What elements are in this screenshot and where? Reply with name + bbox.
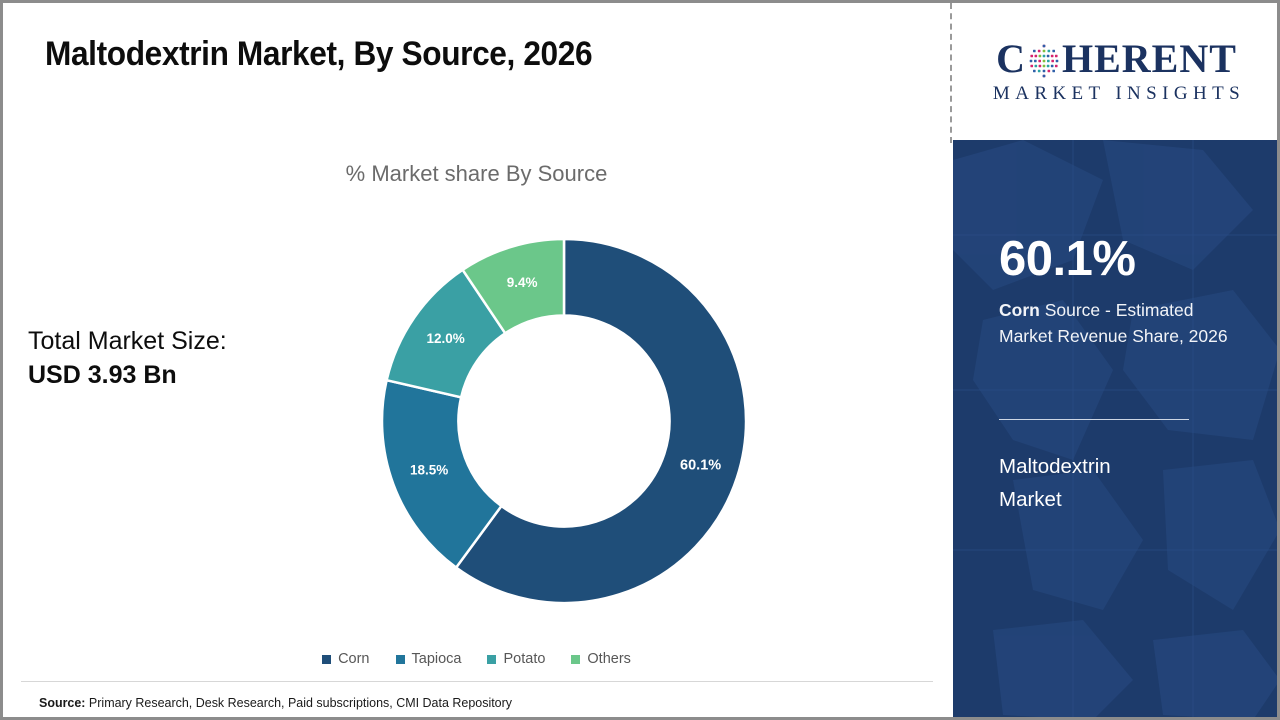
footer-divider <box>21 681 933 682</box>
globe-dot <box>1043 59 1046 62</box>
globe-dot <box>1038 69 1041 72</box>
legend-item-tapioca[interactable]: Tapioca <box>396 651 462 667</box>
infographic-frame: Maltodextrin Market, By Source, 2026 % M… <box>0 0 1280 720</box>
donut-chart: 60.1%18.5%12.0%9.4% <box>378 235 750 607</box>
highlight-product-line2: Market <box>999 483 1234 516</box>
globe-dot <box>1051 64 1054 67</box>
donut-slice-label-others: 9.4% <box>507 275 538 290</box>
globe-dot <box>1048 69 1051 72</box>
legend-label-others: Others <box>587 651 631 667</box>
highlight-stat-rule <box>999 419 1189 420</box>
globe-dot <box>1039 64 1042 67</box>
chart-legend: CornTapiocaPotatoOthers <box>3 651 950 667</box>
legend-swatch-corn <box>322 655 331 664</box>
brand-logo-letters-herent: HERENT <box>1062 39 1237 79</box>
legend-item-potato[interactable]: Potato <box>487 651 545 667</box>
globe-dot <box>1055 54 1058 57</box>
legend-swatch-tapioca <box>396 655 405 664</box>
globe-dot <box>1038 49 1041 52</box>
total-market-size-value: USD 3.93 Bn <box>28 359 328 393</box>
donut-slice-label-potato: 12.0% <box>426 331 464 346</box>
globe-dot <box>1055 64 1058 67</box>
highlight-product-name: Maltodextrin Market <box>999 450 1234 516</box>
page-title: Maltodextrin Market, By Source, 2026 <box>45 35 592 74</box>
legend-label-corn: Corn <box>338 651 369 667</box>
globe-dot <box>1052 49 1055 52</box>
highlight-stat-panel: 60.1% Corn Source - Estimated Market Rev… <box>953 140 1280 720</box>
globe-dot <box>1056 59 1059 62</box>
legend-item-others[interactable]: Others <box>571 651 631 667</box>
globe-dot <box>1033 49 1036 52</box>
donut-slice-label-corn: 60.1% <box>680 458 721 474</box>
globe-dot <box>1047 64 1050 67</box>
source-footer-label: Source: <box>39 695 85 710</box>
globe-dot <box>1051 59 1054 62</box>
highlight-stat-content: 60.1% Corn Source - Estimated Market Rev… <box>953 235 1280 517</box>
globe-dot <box>1039 54 1042 57</box>
globe-dot <box>1052 69 1055 72</box>
globe-dot <box>1047 59 1050 62</box>
globe-dot <box>1030 59 1033 62</box>
globe-dot <box>1043 64 1046 67</box>
donut-chart-svg: 60.1%18.5%12.0%9.4% <box>378 235 750 607</box>
globe-dot <box>1051 54 1054 57</box>
source-footer: Source: Primary Research, Desk Research,… <box>39 695 512 710</box>
total-market-size-label: Total Market Size: <box>28 325 328 359</box>
legend-swatch-others <box>571 655 580 664</box>
globe-dot <box>1030 54 1033 57</box>
brand-logo-subtitle: MARKET INSIGHTS <box>988 83 1245 105</box>
highlight-stat-value: 60.1% <box>999 235 1234 284</box>
legend-label-tapioca: Tapioca <box>412 651 462 667</box>
globe-dot <box>1043 49 1046 52</box>
globe-dot <box>1030 64 1033 67</box>
legend-label-potato: Potato <box>503 651 545 667</box>
total-market-size-block: Total Market Size: USD 3.93 Bn <box>28 325 328 393</box>
chart-subtitle: % Market share By Source <box>3 161 950 187</box>
highlight-stat-description: Corn Source - Estimated Market Revenue S… <box>999 298 1234 349</box>
globe-dot <box>1047 54 1050 57</box>
panel-dashed-divider <box>950 3 952 143</box>
brand-logo: C HERENT MARKET INSIGHTS <box>953 3 1280 140</box>
globe-dot <box>1034 64 1037 67</box>
globe-dot <box>1033 69 1036 72</box>
globe-dot <box>1034 59 1037 62</box>
highlight-product-line1: Maltodextrin <box>999 450 1234 483</box>
dotted-globe-icon <box>1027 44 1061 78</box>
highlight-stat-description-bold: Corn <box>999 300 1040 320</box>
donut-slice-label-tapioca: 18.5% <box>410 463 448 478</box>
globe-dot <box>1034 54 1037 57</box>
globe-dot <box>1043 69 1046 72</box>
source-footer-text: Primary Research, Desk Research, Paid su… <box>85 695 512 710</box>
brand-logo-wordmark: C HERENT <box>996 39 1237 79</box>
brand-logo-letter-c: C <box>996 39 1026 79</box>
globe-dot <box>1048 49 1051 52</box>
legend-item-corn[interactable]: Corn <box>322 651 369 667</box>
chart-main-area: Maltodextrin Market, By Source, 2026 % M… <box>3 3 950 717</box>
globe-dot <box>1038 59 1041 62</box>
globe-dot <box>1043 74 1046 77</box>
legend-swatch-potato <box>487 655 496 664</box>
globe-dot <box>1043 54 1046 57</box>
globe-dot <box>1043 44 1046 47</box>
